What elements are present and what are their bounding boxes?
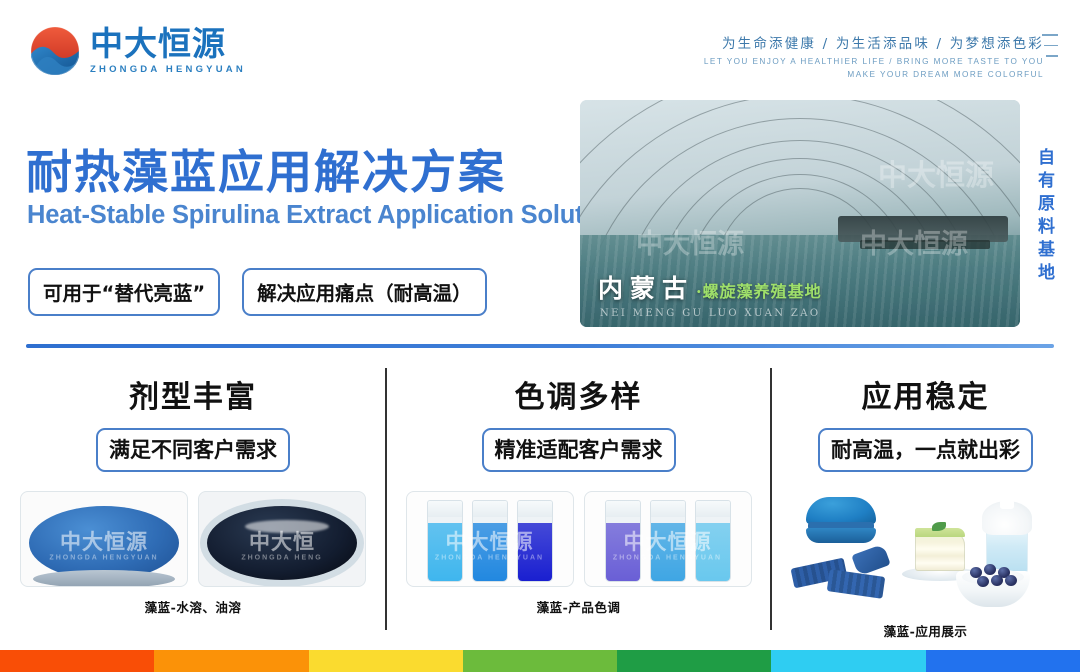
slogan-block: 为生命添健康 / 为生活添品味 / 为梦想添色彩 LET YOU ENJOY A… bbox=[704, 32, 1044, 79]
blue-macaron bbox=[806, 497, 876, 543]
sunrise-wave-logo-icon bbox=[30, 26, 80, 76]
hero-watermark-1: 中大恒源 bbox=[878, 152, 994, 194]
dark-liquid-dish-photo: 中大恒 ZHONGDA HENG bbox=[198, 491, 366, 587]
slogan-accent-bars bbox=[1042, 34, 1058, 57]
photo-watermark: 中大恒 bbox=[249, 526, 315, 556]
hero-pill-group: 可用于“替代亮蓝” 解决应用痛点（耐高温） bbox=[28, 268, 487, 316]
footer-band bbox=[926, 650, 1080, 672]
column-1-badge[interactable]: 满足不同客户需求 bbox=[96, 428, 290, 472]
hero-caption-pinyin: NEI MENG GU LUO XUAN ZAO bbox=[600, 308, 821, 319]
blue-powder-dish-photo: 中大恒源 ZHONGDA HENGYUAN bbox=[20, 491, 188, 587]
column-1-photos: 中大恒源 ZHONGDA HENGYUAN 中大恒 ZHONGDA HENG bbox=[20, 491, 366, 587]
column-2-caption: 藻蓝-产品色调 bbox=[537, 597, 621, 616]
footer-band bbox=[309, 650, 463, 672]
section-divider-rule bbox=[26, 344, 1054, 348]
photo-watermark: 中大恒源 bbox=[446, 526, 534, 556]
footer-band bbox=[617, 650, 771, 672]
footer-band bbox=[771, 650, 925, 672]
page-subtitle: Heat-Stable Spirulina Extract Applicatio… bbox=[27, 201, 621, 230]
feature-column-2: 色调多样 精准适配客户需求 中大恒源 ZHONGDA HENGYUAN 中大恒源… bbox=[386, 362, 771, 642]
column-3-caption: 藻蓝-应用展示 bbox=[884, 621, 968, 640]
column-2-photos: 中大恒源 ZHONGDA HENGYUAN 中大恒源 ZHONGDA HENGY… bbox=[406, 491, 752, 587]
hero-greenhouse-photo: 中大恒源 中大恒源 中大恒源 内蒙古 ·螺旋藻养殖基地 NEI MENG GU … bbox=[580, 100, 1020, 327]
feature-column-3: 应用稳定 耐高温，一点就出彩 bbox=[771, 362, 1080, 642]
page-header: 中大恒源 ZHONGDA HENGYUAN 为生命添健康 / 为生活添品味 / … bbox=[0, 0, 1080, 95]
feature-columns: 剂型丰富 满足不同客户需求 中大恒源 ZHONGDA HENGYUAN 中大恒 … bbox=[0, 362, 1080, 642]
hero-caption-main: 内蒙古 bbox=[598, 269, 694, 305]
hero-pill-1[interactable]: 可用于“替代亮蓝” bbox=[28, 268, 220, 316]
column-3-photos bbox=[780, 491, 1072, 611]
page-title: 耐热藻蓝应用解决方案 bbox=[26, 136, 506, 202]
brand-logo[interactable]: 中大恒源 ZHONGDA HENGYUAN bbox=[30, 26, 246, 76]
column-3-badge[interactable]: 耐高温，一点就出彩 bbox=[818, 428, 1033, 472]
footer-band bbox=[154, 650, 308, 672]
photo-watermark-sub: ZHONGDA HENGYUAN bbox=[435, 554, 544, 561]
feature-column-1: 剂型丰富 满足不同客户需求 中大恒源 ZHONGDA HENGYUAN 中大恒 … bbox=[0, 362, 386, 642]
vials-violet-blues-photo: 中大恒源 ZHONGDA HENGYUAN bbox=[584, 491, 752, 587]
column-2-title: 色调多样 bbox=[515, 372, 643, 416]
slogan-chinese: 为生命添健康 / 为生活添品味 / 为梦想添色彩 bbox=[704, 32, 1044, 52]
column-2-badge[interactable]: 精准适配客户需求 bbox=[482, 428, 676, 472]
hero-watermark-2: 中大恒源 bbox=[636, 222, 744, 261]
application-showcase-photo bbox=[780, 491, 1072, 611]
photo-watermark: 中大恒源 bbox=[60, 526, 148, 556]
footer-band bbox=[0, 650, 154, 672]
hero-pill-2[interactable]: 解决应用痛点（耐高温） bbox=[242, 268, 487, 316]
hero-image-caption: 内蒙古 ·螺旋藻养殖基地 bbox=[598, 269, 822, 305]
slogan-english-line1: LET YOU ENJOY A HEALTHIER LIFE / BRING M… bbox=[704, 57, 1044, 66]
column-1-caption: 藻蓝-水溶、油溶 bbox=[145, 597, 242, 616]
column-3-title: 应用稳定 bbox=[862, 372, 990, 416]
logo-text-cn: 中大恒源 bbox=[90, 27, 246, 62]
hero-caption-sub: ·螺旋藻养殖基地 bbox=[696, 278, 822, 302]
photo-watermark-sub: ZHONGDA HENG bbox=[241, 554, 322, 561]
rainbow-footer-strip bbox=[0, 650, 1080, 672]
hero-watermark-3: 中大恒源 bbox=[860, 222, 968, 261]
slogan-english-line2: MAKE YOUR DREAM MORE COLORFUL bbox=[704, 70, 1044, 79]
blueberry-yogurt-bowl bbox=[956, 563, 1030, 607]
photo-watermark-sub: ZHONGDA HENGYUAN bbox=[49, 554, 158, 561]
logo-text-en: ZHONGDA HENGYUAN bbox=[90, 64, 246, 75]
footer-band bbox=[463, 650, 617, 672]
photo-watermark-sub: ZHONGDA HENGYUAN bbox=[613, 554, 722, 561]
vertical-side-label: 自有原料基地 bbox=[1032, 148, 1057, 286]
photo-watermark: 中大恒源 bbox=[624, 526, 712, 556]
blue-wafer-bar-2 bbox=[826, 569, 885, 599]
blue-wafer-bar-3 bbox=[851, 544, 890, 576]
vials-cool-blues-photo: 中大恒源 ZHONGDA HENGYUAN bbox=[406, 491, 574, 587]
column-1-title: 剂型丰富 bbox=[129, 372, 257, 416]
